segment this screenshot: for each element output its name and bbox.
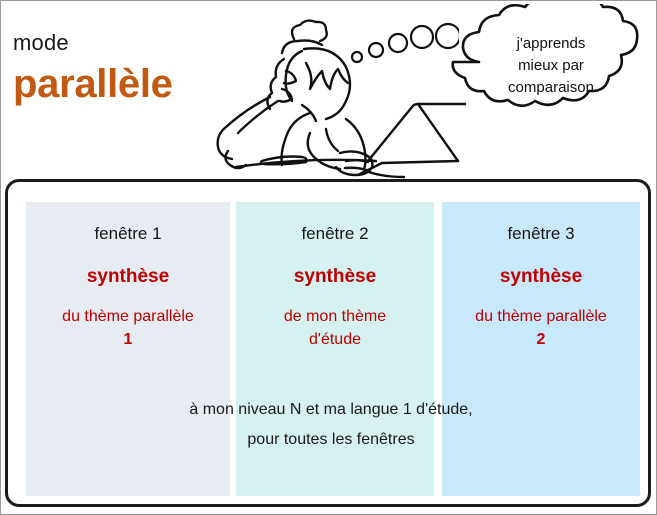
column-3-desc-text: du thème parallèle [475,308,607,325]
windows-panel: fenêtre 1 synthèse du thème parallèle 1 … [5,179,651,507]
column-1-desc-text: du thème parallèle [62,308,194,325]
column-1-description: du thème parallèle 1 [26,305,230,351]
thought-dot-2 [369,43,383,57]
thought-dots [349,19,459,74]
window-column-1: fenêtre 1 synthèse du thème parallèle 1 [26,202,230,496]
thought-dot-1 [352,52,362,62]
window-column-3: fenêtre 3 synthèse du thème parallèle 2 [442,202,640,496]
thought-bubble [449,4,654,152]
column-2-desc-line-2: d'étude [309,331,361,348]
slide-canvas: mode parallèle [0,0,657,515]
mode-label: mode [13,31,223,55]
column-1-header: fenêtre 1 [26,224,230,244]
column-2-synthese: synthèse [236,266,434,289]
column-1-synthese: synthèse [26,266,230,289]
window-column-2: fenêtre 2 synthèse de mon thème d'étude [236,202,434,496]
thought-dot-4 [411,26,433,48]
thought-dot-3 [389,34,407,52]
column-3-synthese: synthèse [442,266,640,289]
column-3-header: fenêtre 3 [442,224,640,244]
column-1-number: 1 [124,331,133,348]
mode-name: parallèle [13,61,223,107]
title-block: mode parallèle [13,31,223,107]
column-2-header: fenêtre 2 [236,224,434,244]
column-2-desc-line-1: de mon thème [284,308,386,325]
column-2-description: de mon thème d'étude [236,305,434,351]
column-3-description: du thème parallèle 2 [442,305,640,351]
column-3-number: 2 [537,331,546,348]
